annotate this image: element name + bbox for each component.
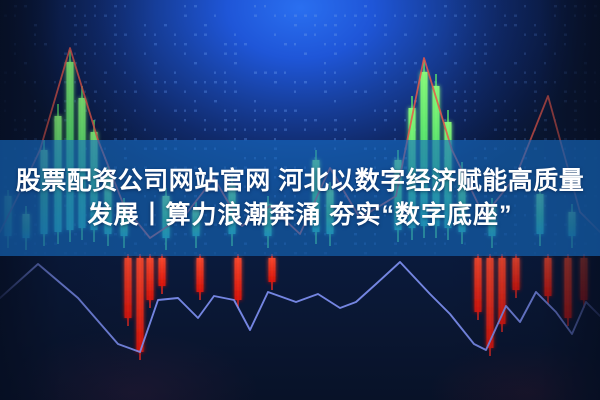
banner-image: 股票配资公司网站官网 河北以数字经济赋能高质量 发展丨算力浪潮奔涌 夯实“数字底… xyxy=(0,0,600,400)
headline-line-1: 股票配资公司网站官网 河北以数字经济赋能高质量 xyxy=(16,166,584,197)
headline-line-2: 发展丨算力浪潮奔涌 夯实“数字底座” xyxy=(88,200,513,231)
headline-band: 股票配资公司网站官网 河北以数字经济赋能高质量 发展丨算力浪潮奔涌 夯实“数字底… xyxy=(0,140,600,256)
